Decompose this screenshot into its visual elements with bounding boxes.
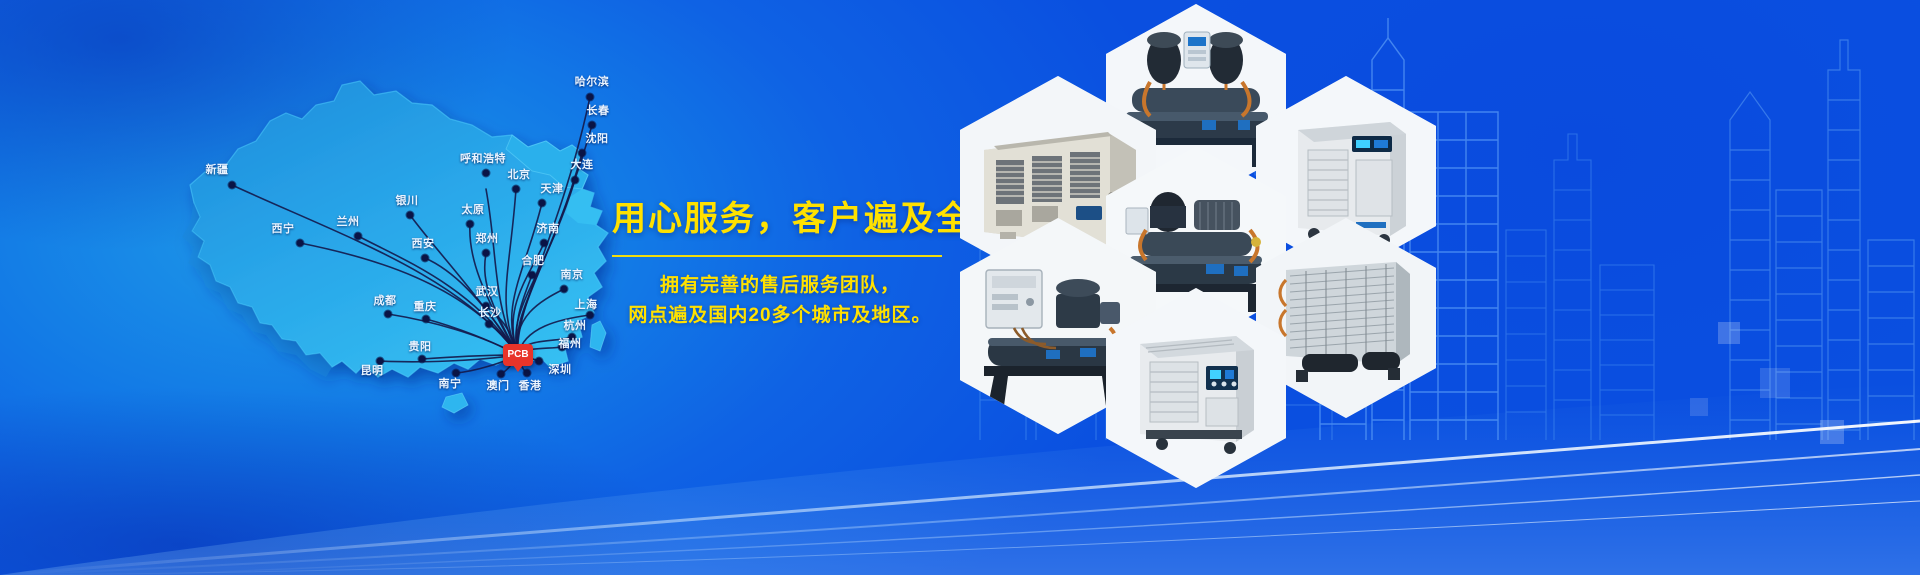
city-label: 济南 bbox=[537, 220, 560, 236]
headline: 用心服务，客户遍及全国 bbox=[612, 200, 992, 239]
subtitle-line-2: 网点遍及国内20多个城市及地区。 bbox=[612, 301, 948, 330]
city-label: 沈阳 bbox=[586, 130, 609, 146]
city-label: 新疆 bbox=[206, 161, 229, 177]
city-label: 昆明 bbox=[361, 362, 384, 378]
hub-marker-badge[interactable]: PCB bbox=[503, 344, 533, 366]
city-dot[interactable] bbox=[229, 182, 236, 189]
city-label: 银川 bbox=[396, 192, 419, 208]
city-label: 成都 bbox=[374, 292, 397, 308]
city-dot[interactable] bbox=[483, 170, 490, 177]
city-dot[interactable] bbox=[587, 312, 594, 319]
city-dot[interactable] bbox=[589, 122, 596, 129]
city-label: 西宁 bbox=[272, 220, 295, 236]
city-label: 重庆 bbox=[414, 298, 437, 314]
city-label: 长春 bbox=[587, 102, 610, 118]
city-dot[interactable] bbox=[483, 250, 490, 257]
city-label: 澳门 bbox=[487, 377, 510, 393]
city-dot[interactable] bbox=[385, 311, 392, 318]
city-label: 天津 bbox=[541, 180, 564, 196]
city-dot[interactable] bbox=[536, 358, 543, 365]
city-dot[interactable] bbox=[541, 240, 548, 247]
decor-square bbox=[1820, 420, 1844, 444]
copy-block: 用心服务，客户遍及全国 拥有完善的售后服务团队， 网点遍及国内20多个城市及地区… bbox=[612, 200, 992, 330]
city-label: 贵阳 bbox=[409, 338, 432, 354]
city-dot[interactable] bbox=[422, 255, 429, 262]
city-label: 香港 bbox=[519, 377, 542, 393]
headline-divider bbox=[612, 255, 942, 257]
city-label: 长沙 bbox=[479, 304, 502, 320]
city-label: 福州 bbox=[559, 335, 582, 351]
city-label: 呼和浩特 bbox=[460, 150, 506, 166]
city-dot[interactable] bbox=[539, 200, 546, 207]
city-label: 西安 bbox=[412, 235, 435, 251]
city-label: 哈尔滨 bbox=[575, 73, 610, 89]
city-label: 杭州 bbox=[564, 317, 587, 333]
city-dot[interactable] bbox=[561, 286, 568, 293]
city-dot[interactable] bbox=[407, 212, 414, 219]
city-dot[interactable] bbox=[419, 356, 426, 363]
product-hex-grid bbox=[940, 0, 1540, 575]
promo-banner: 哈尔滨长春沈阳呼和浩特北京大连天津新疆银川太原兰州西宁西安郑州济南合肥南京武汉上… bbox=[0, 0, 1920, 575]
city-dot[interactable] bbox=[524, 370, 531, 377]
city-label: 南宁 bbox=[439, 375, 462, 391]
city-dot[interactable] bbox=[355, 233, 362, 240]
city-label: 大连 bbox=[571, 156, 594, 172]
city-label: 北京 bbox=[508, 166, 531, 182]
decor-square bbox=[1718, 322, 1740, 344]
city-dot[interactable] bbox=[572, 177, 579, 184]
city-label: 深圳 bbox=[549, 361, 572, 377]
city-label: 南京 bbox=[561, 266, 584, 282]
decor-square bbox=[1690, 398, 1708, 416]
city-label: 武汉 bbox=[476, 283, 499, 299]
city-dot[interactable] bbox=[587, 94, 594, 101]
city-dot[interactable] bbox=[423, 316, 430, 323]
subtitle-line-1: 拥有完善的售后服务团队， bbox=[612, 271, 948, 300]
city-label: 合肥 bbox=[522, 252, 545, 268]
city-dot[interactable] bbox=[297, 240, 304, 247]
city-label: 上海 bbox=[575, 296, 598, 312]
city-label: 太原 bbox=[462, 201, 485, 217]
city-dot[interactable] bbox=[467, 221, 474, 228]
city-label: 郑州 bbox=[476, 230, 499, 246]
city-dot[interactable] bbox=[486, 321, 493, 328]
decor-square bbox=[1760, 368, 1790, 398]
city-dot[interactable] bbox=[513, 186, 520, 193]
city-dot[interactable] bbox=[529, 272, 536, 279]
city-label: 兰州 bbox=[337, 213, 360, 229]
china-map: 哈尔滨长春沈阳呼和浩特北京大连天津新疆银川太原兰州西宁西安郑州济南合肥南京武汉上… bbox=[120, 25, 680, 445]
